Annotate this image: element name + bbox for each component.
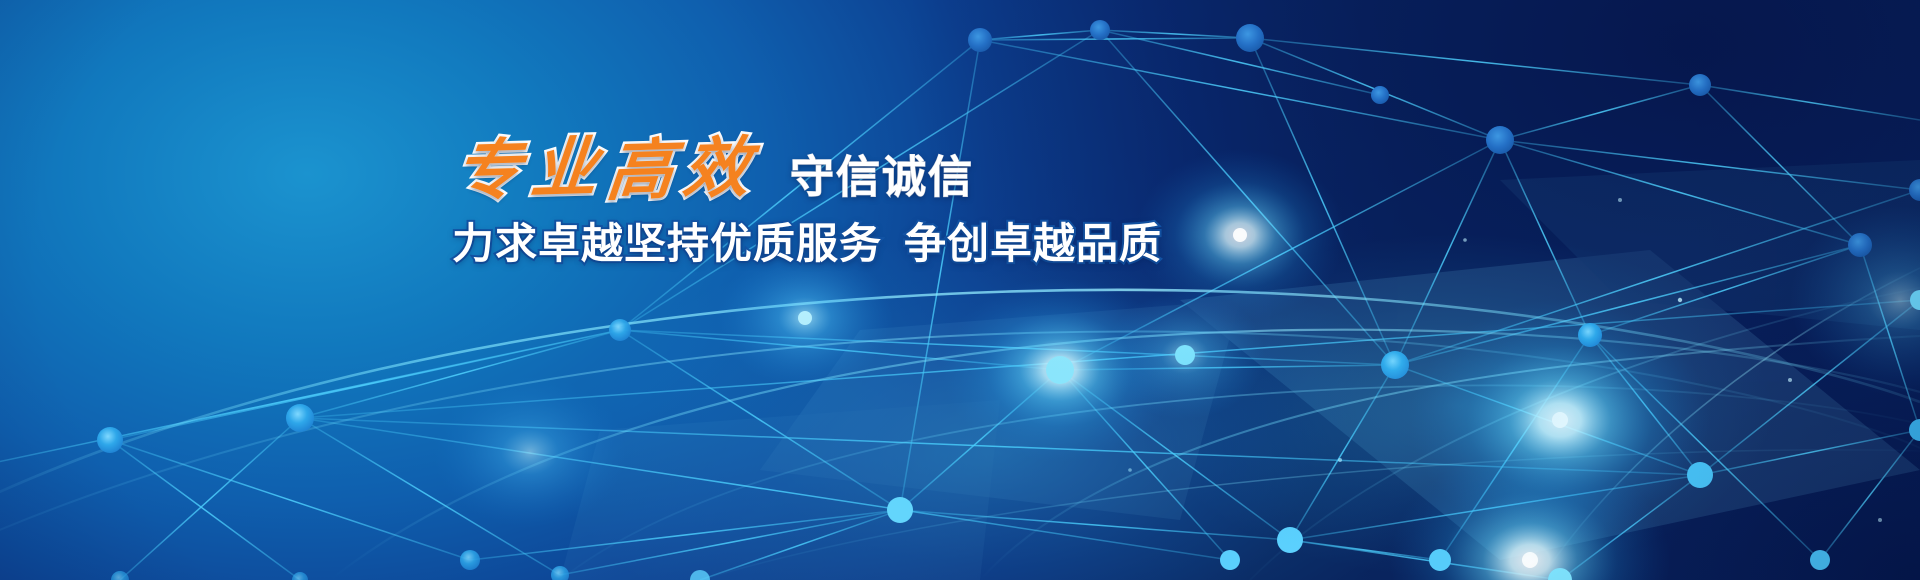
hero-banner: 专业 高效 守信诚信 力求卓越坚持优质服务争创卓越品质 [0, 0, 1920, 580]
background-vignette [0, 0, 1920, 580]
